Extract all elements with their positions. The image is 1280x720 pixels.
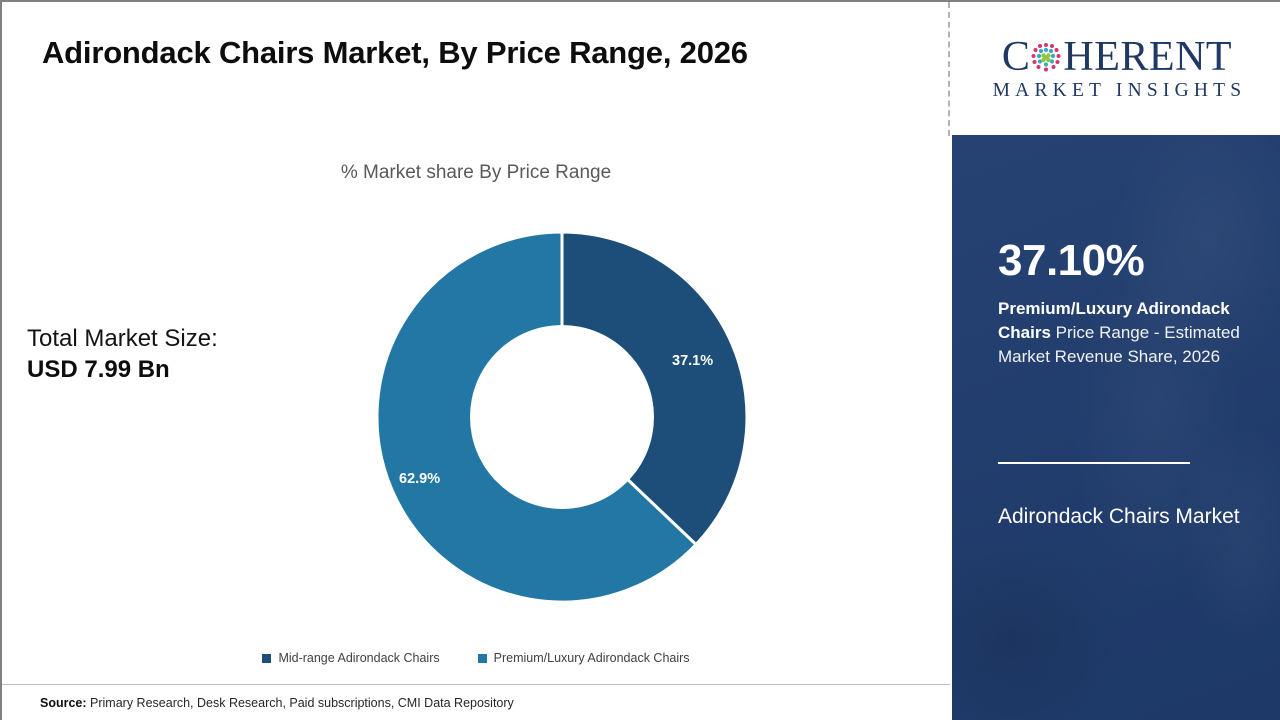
total-market-value: USD 7.99 Bn bbox=[27, 355, 357, 386]
legend-swatch-mid-range bbox=[262, 654, 271, 663]
highlight-percent: 37.10% bbox=[998, 239, 1260, 283]
page-title: Adirondack Chairs Market, By Price Range… bbox=[42, 35, 922, 71]
legend-label-mid-range: Mid-range Adirondack Chairs bbox=[278, 651, 439, 665]
legend-item-premium-luxury[interactable]: Premium/Luxury Adirondack Chairs bbox=[478, 651, 690, 665]
source-divider bbox=[2, 684, 950, 685]
brand-logo[interactable]: C bbox=[952, 2, 1280, 135]
chart-area: Adirondack Chairs Market, By Price Range… bbox=[2, 2, 950, 720]
infographic-page: Adirondack Chairs Market, By Price Range… bbox=[0, 0, 1280, 720]
donut-hole bbox=[470, 325, 654, 509]
legend-swatch-premium-luxury bbox=[478, 654, 487, 663]
globe-dots-icon bbox=[1030, 41, 1062, 73]
side-panel: C bbox=[952, 2, 1280, 720]
panel-background-texture bbox=[952, 135, 1280, 720]
chart-subtitle: % Market share By Price Range bbox=[2, 162, 950, 184]
logo-wordmark: C bbox=[1002, 36, 1232, 78]
logo-wordmark-rest: HERENT bbox=[1063, 36, 1232, 78]
panel-market-name: Adirondack Chairs Market bbox=[998, 500, 1260, 534]
donut-chart-svg bbox=[377, 232, 747, 602]
chart-legend: Mid-range Adirondack Chairs Premium/Luxu… bbox=[2, 651, 950, 665]
source-note: Source: Primary Research, Desk Research,… bbox=[40, 696, 514, 710]
panel-highlight: 37.10% Premium/Luxury Adirondack Chairs … bbox=[998, 239, 1260, 369]
logo-subtitle: MARKET INSIGHTS bbox=[988, 80, 1247, 102]
source-text: Primary Research, Desk Research, Paid su… bbox=[90, 696, 514, 710]
total-market-label: Total Market Size: bbox=[27, 324, 357, 355]
highlight-description: Premium/Luxury Adirondack Chairs Price R… bbox=[998, 297, 1260, 369]
donut-label-premium-luxury: 37.1% bbox=[672, 353, 713, 369]
donut-label-mid-range: 62.9% bbox=[399, 471, 440, 487]
vertical-dashed-divider bbox=[948, 2, 950, 136]
donut-chart: 37.1% 62.9% bbox=[377, 232, 747, 602]
side-panel-body: 37.10% Premium/Luxury Adirondack Chairs … bbox=[952, 135, 1280, 720]
total-market-size: Total Market Size: USD 7.99 Bn bbox=[27, 324, 357, 385]
legend-label-premium-luxury: Premium/Luxury Adirondack Chairs bbox=[494, 651, 690, 665]
legend-item-mid-range[interactable]: Mid-range Adirondack Chairs bbox=[262, 651, 439, 665]
panel-divider bbox=[998, 462, 1190, 464]
logo-letter-c: C bbox=[1002, 36, 1031, 78]
source-label: Source: bbox=[40, 696, 87, 710]
